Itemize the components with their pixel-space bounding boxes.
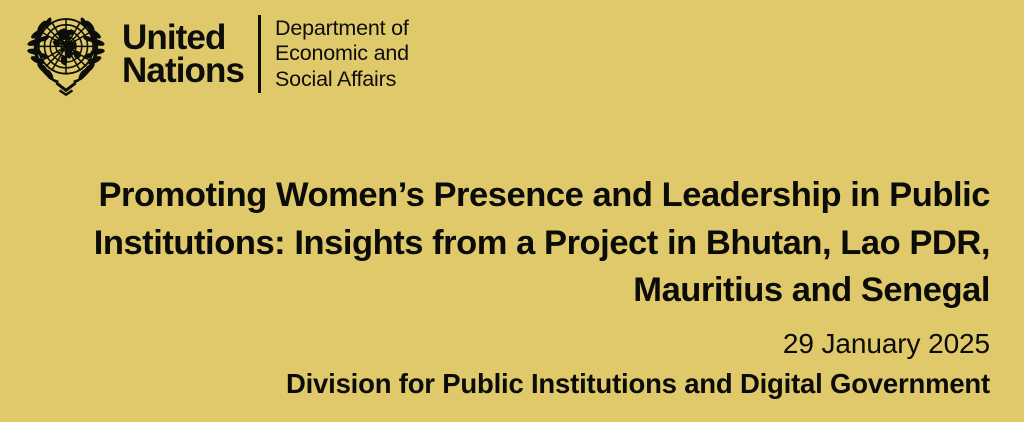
title-slide: United Nations Department of Economic an… [0,0,1024,422]
un-wordmark-line-1: United [122,21,244,54]
page-title: Promoting Women’s Presence and Leadershi… [34,172,990,315]
vertical-divider-icon [258,15,261,93]
un-wordmark-line-2: Nations [122,54,244,87]
department-name-line-3: Social Affairs [275,67,409,93]
un-emblem-icon [18,9,114,99]
title-block: Promoting Women’s Presence and Leadershi… [34,172,990,401]
presentation-date: 29 January 2025 [34,327,990,361]
department-name-line-1: Department of [275,16,409,42]
un-wordmark: United Nations [122,21,244,88]
division-name: Division for Public Institutions and Dig… [34,367,990,401]
department-name-line-2: Economic and [275,41,409,67]
department-name: Department of Economic and Social Affair… [275,16,409,93]
un-desa-logo-lockup: United Nations Department of Economic an… [18,9,409,99]
